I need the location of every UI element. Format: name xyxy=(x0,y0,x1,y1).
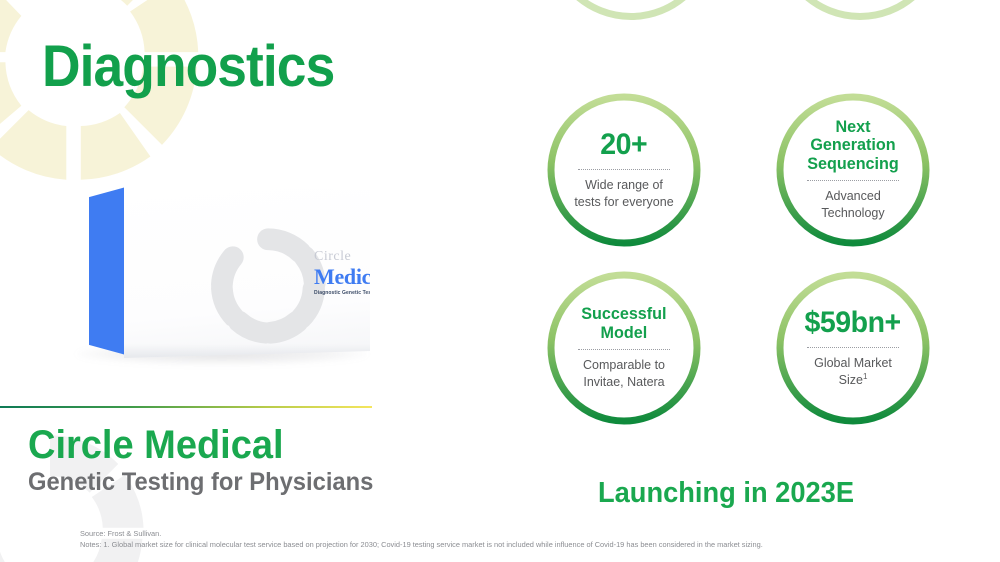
stat-divider xyxy=(807,347,899,348)
footnote-marker: 1 xyxy=(863,372,867,381)
stat-description: Advanced Technology xyxy=(821,188,884,222)
product-box-front-panel: Circle Medical Diagnostic Genetic Testin… xyxy=(124,184,370,358)
stat-title: 20+ xyxy=(601,129,648,161)
cut-off-circle-1 xyxy=(546,0,716,20)
product-brand-top: Circle xyxy=(314,250,388,264)
stat-divider xyxy=(578,169,670,170)
stat-card-sequencing[interactable]: Next Generation Sequencing Advanced Tech… xyxy=(775,92,931,248)
stat-divider xyxy=(578,349,670,350)
brand-tagline: Genetic Testing for Physicians xyxy=(28,468,373,497)
stat-description: Wide range of tests for everyone xyxy=(574,177,673,211)
footnote-source: Source: Frost & Sullivan. xyxy=(80,528,980,539)
product-box-image: Circle Medical Diagnostic Genetic Testin… xyxy=(55,165,395,390)
slide-root: Diagnostics Circle Medical Diagnostic xyxy=(0,0,1000,562)
cut-off-circle-2 xyxy=(775,0,945,20)
stat-title: Next Generation Sequencing xyxy=(792,118,914,173)
stat-title: $59bn+ xyxy=(805,307,901,339)
stat-title: Successful Model xyxy=(581,305,666,342)
brand-name: Circle Medical xyxy=(28,424,373,466)
stat-card-market-size[interactable]: $59bn+ Global Market Size1 xyxy=(775,270,931,426)
footnotes: Source: Frost & Sullivan. Notes: 1. Glob… xyxy=(80,528,980,551)
product-box-branding: Circle Medical Diagnostic Genetic Testin… xyxy=(314,250,388,296)
stat-card-tests[interactable]: 20+ Wide range of tests for everyone xyxy=(546,92,702,248)
gradient-divider xyxy=(0,406,372,408)
page-title: Diagnostics xyxy=(42,33,334,100)
launch-label: Launching in 2023E xyxy=(598,477,854,510)
product-box-side-panel xyxy=(89,187,126,355)
circle-ring-logo-icon xyxy=(204,216,332,356)
product-brand-main: Medical xyxy=(314,266,388,288)
stat-card-model[interactable]: Successful Model Comparable to Invitae, … xyxy=(546,270,702,426)
stat-description: Comparable to Invitae, Natera xyxy=(583,357,665,391)
stat-description: Global Market Size1 xyxy=(814,355,892,389)
stat-divider xyxy=(807,180,899,181)
brand-block: Circle Medical Genetic Testing for Physi… xyxy=(28,424,392,497)
footnote-notes: Notes: 1. Global market size for clinica… xyxy=(80,539,980,550)
product-brand-sub: Diagnostic Genetic Testing xyxy=(314,291,388,296)
